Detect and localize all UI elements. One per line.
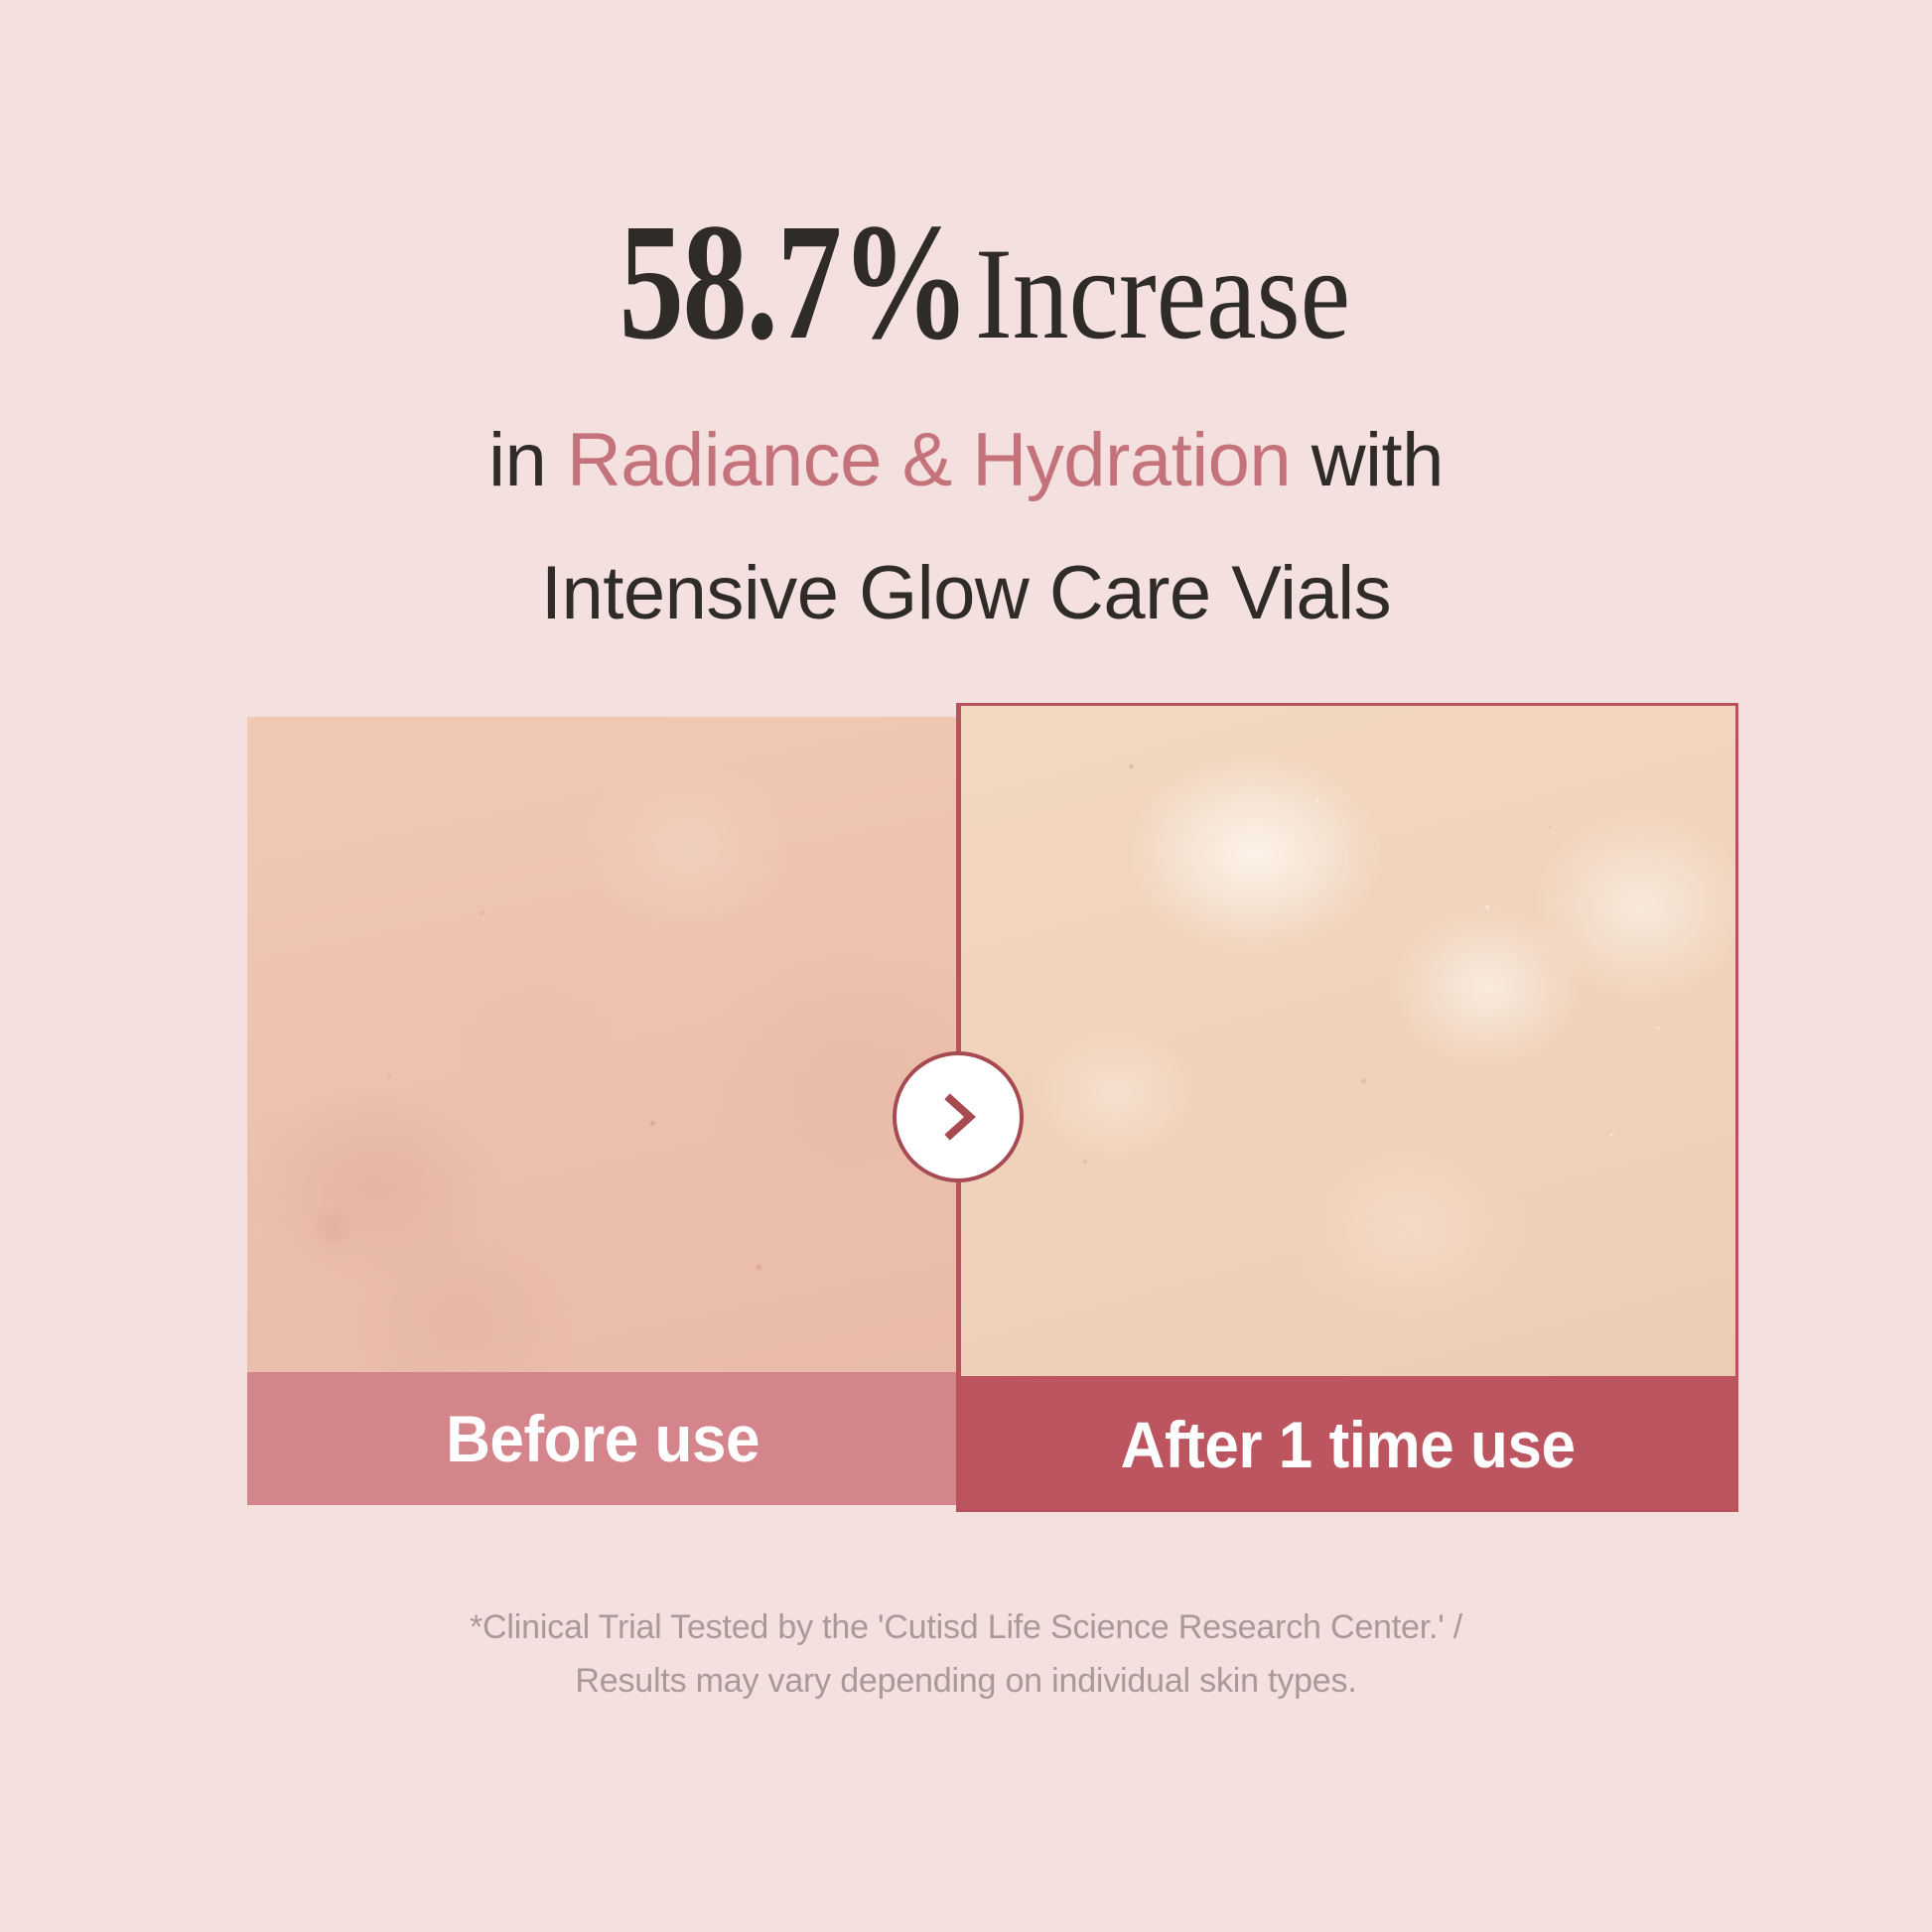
disclaimer-line-1: *Clinical Trial Tested by the 'Cutisd Li… [0, 1600, 1932, 1654]
headline-line-1: 58.7%Increase [0, 199, 1932, 357]
before-after-comparison: Before use After 1 time use [247, 703, 1738, 1512]
after-panel: After 1 time use [958, 703, 1738, 1512]
stat-percent-value: 58.7% [620, 199, 970, 365]
chevron-right-icon [893, 1051, 1024, 1182]
disclaimer-line-2: Results may vary depending on individual… [0, 1654, 1932, 1708]
headline-line-2-suffix: with [1291, 418, 1444, 502]
promo-card: 58.7%Increase in Radiance & Hydration wi… [0, 0, 1932, 1932]
product-name: Intensive Glow Care Vials [0, 556, 1932, 631]
headline-block: 58.7%Increase in Radiance & Hydration wi… [0, 199, 1932, 631]
headline-line-2-prefix: in [488, 418, 567, 502]
after-skin-photo [961, 706, 1735, 1376]
before-label-text: Before use [446, 1401, 759, 1476]
before-skin-photo [247, 717, 958, 1372]
before-label-bar: Before use [247, 1372, 958, 1505]
after-label-bar: After 1 time use [961, 1376, 1735, 1512]
headline-line-2: in Radiance & Hydration with [0, 423, 1932, 498]
after-label-text: After 1 time use [1121, 1407, 1576, 1482]
disclaimer: *Clinical Trial Tested by the 'Cutisd Li… [0, 1600, 1932, 1709]
before-panel: Before use [247, 717, 958, 1505]
stat-increase-word: Increase [975, 228, 1350, 359]
headline-benefit-highlight: Radiance & Hydration [567, 418, 1291, 502]
